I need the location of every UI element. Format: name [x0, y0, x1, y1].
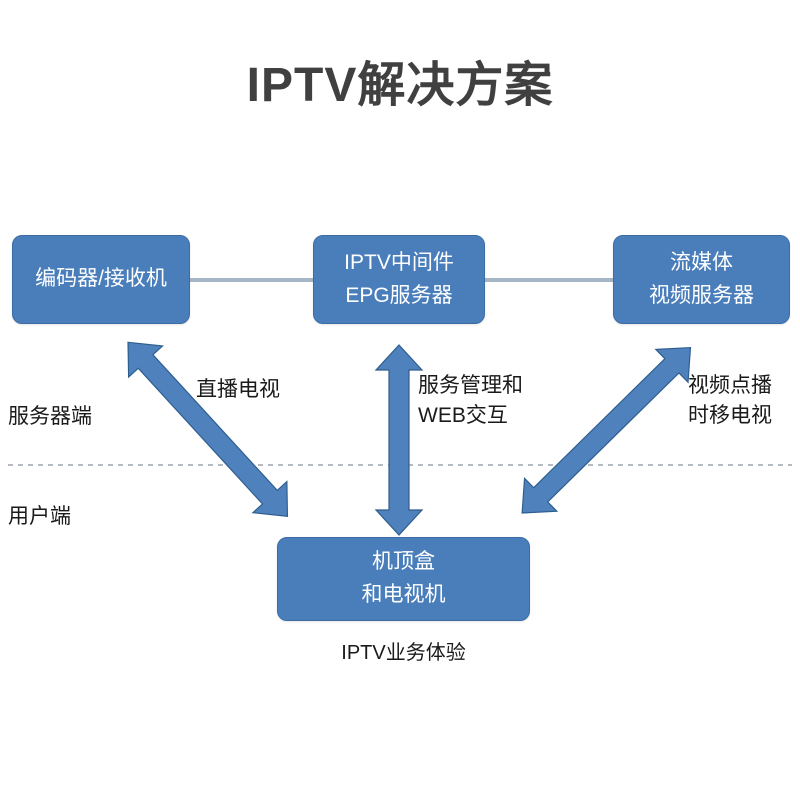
node-encoder-line-1: 编码器/接收机: [35, 263, 167, 296]
diagram-canvas: IPTV解决方案 编码器/接收机 IPTV中间件 EPG服务器 流媒体 视频服务…: [0, 0, 800, 800]
node-streaming-video-server[interactable]: 流媒体 视频服务器: [613, 235, 790, 324]
flow-label-vod-line-1: 视频点播: [688, 371, 772, 401]
flow-label-service-management-line-2: WEB交互: [418, 401, 523, 431]
diagram-vector-layer: [0, 0, 800, 800]
streaming-stb-arrow: [506, 331, 707, 529]
node-middleware-line-1: IPTV中间件: [344, 247, 454, 280]
flow-label-live-tv: 直播电视: [196, 375, 280, 405]
zone-label-client-side: 用户端: [8, 502, 71, 532]
encoder-stb-arrow: [111, 327, 304, 532]
flow-label-service-management: 服务管理和 WEB交互: [418, 371, 523, 432]
node-stb-line-1: 机顶盒: [372, 546, 435, 579]
zone-label-server-side: 服务器端: [8, 402, 92, 432]
flow-label-live-tv-line-1: 直播电视: [196, 375, 280, 405]
node-middleware-line-2: EPG服务器: [345, 280, 452, 313]
flow-label-vod: 视频点播 时移电视: [688, 371, 772, 432]
node-set-top-box-tv[interactable]: 机顶盒 和电视机: [277, 537, 530, 621]
node-iptv-middleware-epg-server[interactable]: IPTV中间件 EPG服务器: [313, 235, 485, 324]
middleware-stb-arrow: [376, 345, 422, 535]
node-encoder-receiver[interactable]: 编码器/接收机: [12, 235, 190, 324]
node-streaming-line-2: 视频服务器: [649, 280, 754, 313]
node-stb-line-2: 和电视机: [362, 579, 446, 612]
node-streaming-line-1: 流媒体: [670, 247, 733, 280]
flow-label-service-management-line-1: 服务管理和: [418, 371, 523, 401]
node-stb-caption: IPTV业务体验: [277, 636, 530, 665]
flow-label-vod-line-2: 时移电视: [688, 401, 772, 431]
